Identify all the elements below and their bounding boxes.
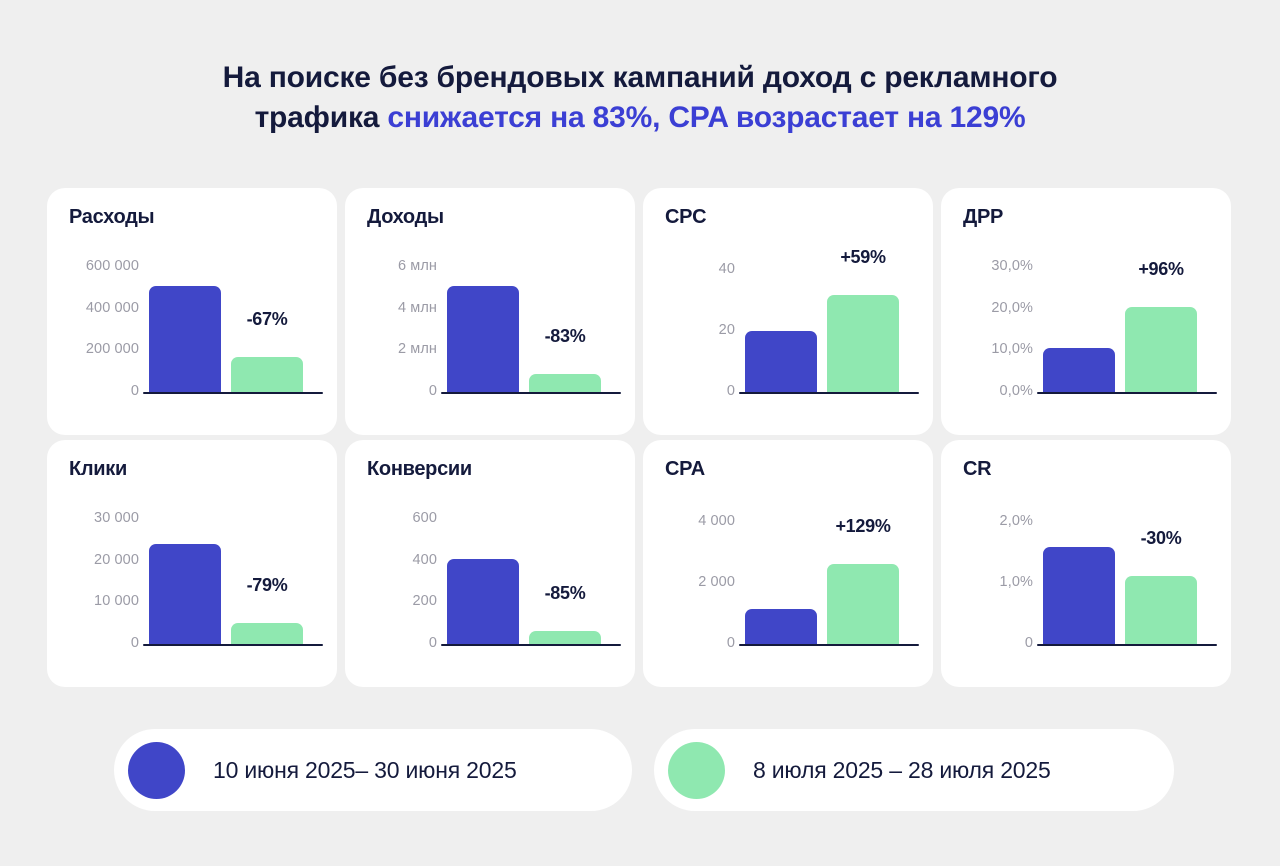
delta-label: +129% (835, 516, 890, 537)
metric-card-title: CPC (665, 206, 706, 229)
y-axis-tick: 200 (345, 593, 437, 609)
y-axis-tick-labels: 4 0002 0000 (643, 506, 735, 646)
metric-card-title: Доходы (367, 206, 444, 229)
y-axis-tick: 0,0% (941, 383, 1033, 399)
bar-series-b (827, 295, 899, 392)
plot-area: -83% (441, 254, 621, 394)
plot-area: +59% (739, 254, 919, 394)
axis-baseline (441, 392, 621, 395)
legend-item: 10 июня 2025– 30 июня 2025 (114, 729, 632, 811)
bar-series-a (745, 609, 817, 644)
y-axis-tick: 20 000 (47, 552, 139, 568)
y-axis-tick: 30 000 (47, 510, 139, 526)
y-axis-tick: 400 000 (47, 300, 139, 316)
y-axis-tick: 10 000 (47, 593, 139, 609)
y-axis-tick-labels: 30 00020 00010 0000 (47, 506, 139, 646)
bar-series-b (529, 631, 601, 644)
delta-label: -83% (545, 326, 586, 347)
y-axis-tick: 0 (47, 383, 139, 399)
y-axis-tick: 600 (345, 510, 437, 526)
plot-area: -30% (1037, 506, 1217, 646)
bar-chart: 6004002000-85% (345, 506, 635, 646)
chart-legend: 10 июня 2025– 30 июня 20258 июля 2025 – … (114, 729, 1174, 811)
axis-baseline (441, 644, 621, 647)
metric-card: Клики30 00020 00010 0000-79% (47, 440, 337, 687)
delta-label: +96% (1138, 259, 1183, 280)
bar-series-a (149, 544, 221, 644)
infographic-page: На поиске без брендовых кампаний доход с… (0, 0, 1280, 866)
metric-card-title: CPA (665, 458, 705, 481)
bar-series-a (149, 286, 221, 392)
metric-card: Доходы6 млн4 млн2 млн0-83% (345, 188, 635, 435)
axis-baseline (143, 644, 323, 647)
bar-series-a (1043, 547, 1115, 644)
plot-area: +129% (739, 506, 919, 646)
axis-baseline (739, 644, 919, 647)
bar-series-b (1125, 576, 1197, 644)
y-axis-tick: 2 000 (643, 574, 735, 590)
plot-area: -79% (143, 506, 323, 646)
metric-card: ДРР30,0%20,0%10,0%0,0%+96% (941, 188, 1231, 435)
metric-card-title: CR (963, 458, 991, 481)
bar-series-a (1043, 348, 1115, 392)
page-title-line-1: На поиске без брендовых кампаний доход с… (64, 58, 1216, 98)
y-axis-tick-labels: 600 000400 000200 0000 (47, 254, 139, 394)
y-axis-tick-labels: 6 млн4 млн2 млн0 (345, 254, 437, 394)
metric-card: Конверсии6004002000-85% (345, 440, 635, 687)
page-title-accent-part: снижается на 83%, CPA возрастает на 129% (387, 101, 1025, 134)
axis-baseline (739, 392, 919, 395)
delta-label: -85% (545, 583, 586, 604)
bar-series-a (745, 331, 817, 392)
y-axis-tick: 200 000 (47, 341, 139, 357)
y-axis-tick: 0 (345, 635, 437, 651)
legend-item: 8 июля 2025 – 28 июля 2025 (654, 729, 1174, 811)
y-axis-tick: 2 млн (345, 341, 437, 357)
metric-card: CPC40200+59% (643, 188, 933, 435)
y-axis-tick: 6 млн (345, 258, 437, 274)
y-axis-tick: 600 000 (47, 258, 139, 274)
y-axis-tick: 40 (643, 261, 735, 277)
y-axis-tick-labels: 2,0%1,0%0 (941, 506, 1033, 646)
y-axis-tick: 0 (643, 635, 735, 651)
bar-series-b (1125, 307, 1197, 392)
legend-item-label: 10 июня 2025– 30 июня 2025 (213, 757, 517, 784)
y-axis-tick: 1,0% (941, 574, 1033, 590)
y-axis-tick: 20,0% (941, 300, 1033, 316)
bar-chart: 4 0002 0000+129% (643, 506, 933, 646)
y-axis-tick: 4 млн (345, 300, 437, 316)
bar-series-a (447, 559, 519, 644)
bar-series-b (827, 564, 899, 644)
y-axis-tick: 2,0% (941, 513, 1033, 529)
bar-chart: 600 000400 000200 0000-67% (47, 254, 337, 394)
delta-label: -79% (247, 575, 288, 596)
page-title-plain-part: трафика (255, 101, 388, 134)
y-axis-tick: 0 (941, 635, 1033, 651)
plot-area: +96% (1037, 254, 1217, 394)
green-dot-icon (668, 742, 725, 799)
metric-card: CPA4 0002 0000+129% (643, 440, 933, 687)
metric-card: CR2,0%1,0%0-30% (941, 440, 1231, 687)
y-axis-tick-labels: 30,0%20,0%10,0%0,0% (941, 254, 1033, 394)
y-axis-tick: 10,0% (941, 341, 1033, 357)
plot-area: -85% (441, 506, 621, 646)
metric-card: Расходы600 000400 000200 0000-67% (47, 188, 337, 435)
y-axis-tick: 0 (47, 635, 139, 651)
delta-label: +59% (840, 247, 885, 268)
bar-chart: 30 00020 00010 0000-79% (47, 506, 337, 646)
y-axis-tick: 0 (643, 383, 735, 399)
bar-series-b (231, 623, 303, 644)
page-title-line-2: трафика снижается на 83%, CPA возрастает… (64, 98, 1216, 138)
y-axis-tick: 400 (345, 552, 437, 568)
bar-chart: 2,0%1,0%0-30% (941, 506, 1231, 646)
metric-card-title: Клики (69, 458, 127, 481)
axis-baseline (143, 392, 323, 395)
axis-baseline (1037, 392, 1217, 395)
plot-area: -67% (143, 254, 323, 394)
y-axis-tick-labels: 40200 (643, 254, 735, 394)
delta-label: -30% (1141, 528, 1182, 549)
delta-label: -67% (247, 309, 288, 330)
bar-chart: 6 млн4 млн2 млн0-83% (345, 254, 635, 394)
bar-chart: 30,0%20,0%10,0%0,0%+96% (941, 254, 1231, 394)
blue-dot-icon (128, 742, 185, 799)
y-axis-tick: 20 (643, 322, 735, 338)
legend-item-label: 8 июля 2025 – 28 июля 2025 (753, 757, 1051, 784)
bar-series-b (529, 374, 601, 392)
y-axis-tick: 0 (345, 383, 437, 399)
page-title: На поиске без брендовых кампаний доход с… (64, 58, 1216, 137)
y-axis-tick: 4 000 (643, 513, 735, 529)
y-axis-tick: 30,0% (941, 258, 1033, 274)
axis-baseline (1037, 644, 1217, 647)
metric-card-title: Конверсии (367, 458, 472, 481)
metric-card-title: Расходы (69, 206, 154, 229)
metric-card-title: ДРР (963, 206, 1003, 229)
bar-series-a (447, 286, 519, 392)
bar-chart: 40200+59% (643, 254, 933, 394)
metric-cards-grid: Расходы600 000400 000200 0000-67%Доходы6… (47, 188, 1233, 687)
y-axis-tick-labels: 6004002000 (345, 506, 437, 646)
bar-series-b (231, 357, 303, 392)
